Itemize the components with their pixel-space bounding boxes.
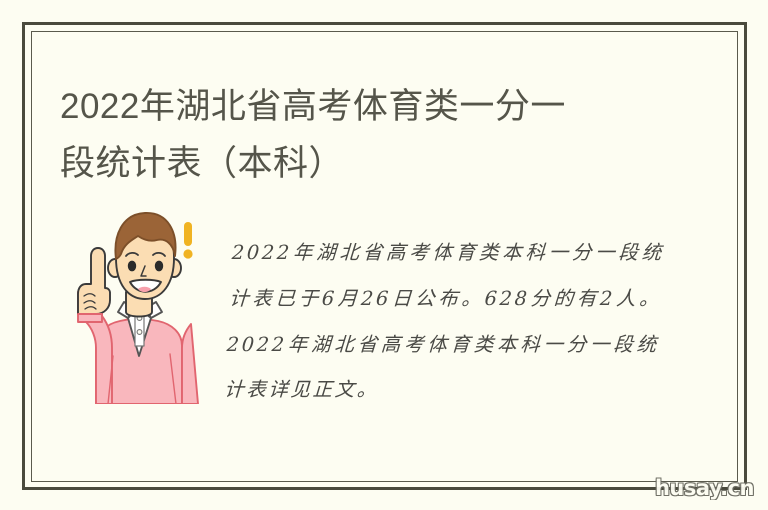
article-body: 2022年湖北省高考体育类本科一分一段统计表已于6月26日公布。628分的有2人… [223, 230, 665, 413]
exclamation-icon [183, 222, 192, 259]
site-watermark: husay.cn [655, 476, 754, 500]
page-title: 2022年湖北省高考体育类一分一 段统计表（本科） [60, 79, 690, 192]
illustration-man-pointing-up [58, 196, 218, 404]
page-canvas: 2022年湖北省高考体育类一分一 段统计表（本科） [0, 0, 768, 510]
